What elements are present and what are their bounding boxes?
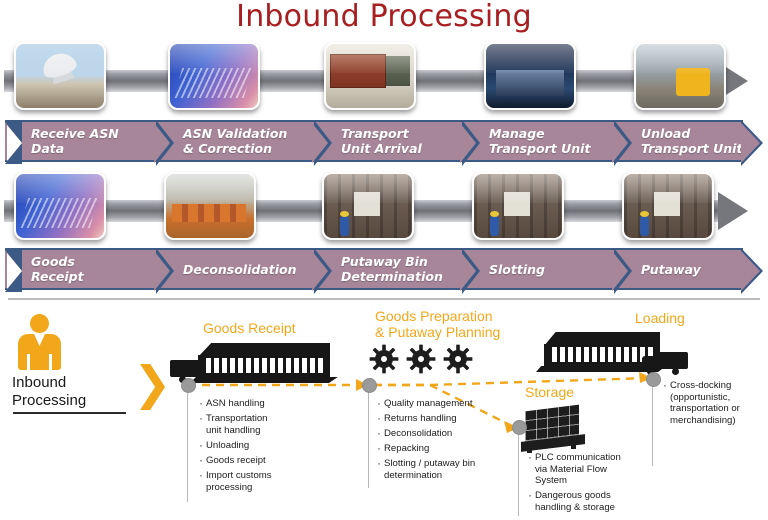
chevron-label: Deconsolidation	[157, 262, 296, 277]
list-item: Dangerous goods handling & storage	[527, 490, 642, 513]
person-icon	[18, 314, 60, 370]
list-item: PLC communication via Material Flow Syst…	[527, 452, 642, 487]
chevron-step-slotting[interactable]: Slotting	[463, 248, 615, 290]
list-item: Slotting / putaway bin determination	[376, 458, 506, 481]
thumbnail-warehouse-rack-3	[622, 172, 714, 240]
chevron-label: ASN Validation & Correction	[157, 126, 287, 156]
flow-stem-goods-preparation	[368, 390, 369, 488]
list-item: Transportation unit handling	[198, 413, 290, 436]
row-1-thumbnails	[0, 42, 768, 110]
chevron-step-putaway-bin-determination[interactable]: Putaway Bin Determination	[315, 248, 463, 290]
chevron-bar-row-2: Goods Receipt Deconsolidation Putaway Bi…	[5, 248, 760, 290]
warehouse-icon-goods-receipt	[198, 343, 330, 385]
gears-icon	[369, 344, 473, 376]
flow-stem-loading	[652, 384, 653, 466]
chevron-step-manage-transport-unit[interactable]: Manage Transport Unit	[463, 120, 615, 162]
stage-heading-goods-receipt: Goods Receipt	[203, 320, 296, 336]
bullet-list-loading: Cross-docking (opportunistic, transporta…	[662, 380, 766, 430]
truck-icon-loading	[642, 352, 688, 374]
list-item: Cross-docking (opportunistic, transporta…	[662, 380, 766, 426]
bullet-list-storage: PLC communication via Material Flow Syst…	[527, 452, 642, 517]
list-item: Deconsolidation	[376, 428, 506, 440]
inbound-processing-label: Inbound Processing	[12, 374, 132, 410]
chevron-step-unload-transport-unit[interactable]: Unload Transport Unit	[615, 120, 743, 162]
thumbnail-warehouse-rack-2	[472, 172, 564, 240]
thumbnail-conveyor-parcels	[164, 172, 256, 240]
chevron-label: Unload Transport Unit	[615, 126, 742, 156]
pallet-icon	[521, 408, 585, 452]
list-item: Quality management	[376, 398, 506, 410]
flow-node-goods-receipt	[181, 378, 196, 393]
chevron-step-deconsolidation[interactable]: Deconsolidation	[157, 248, 315, 290]
list-item: Unloading	[198, 440, 290, 452]
chevron-label: Manage Transport Unit	[463, 126, 590, 156]
thumbnail-satellite-dish	[14, 42, 106, 110]
thumbnail-keyboard-typing-2	[14, 172, 106, 240]
list-item: ASN handling	[198, 398, 290, 410]
page-title: Inbound Processing	[0, 0, 768, 34]
flow-node-storage	[512, 420, 527, 435]
bullet-list-goods-receipt: ASN handling Transportation unit handlin…	[198, 398, 290, 497]
flow-node-loading	[646, 372, 661, 387]
chevron-step-putaway[interactable]: Putaway	[615, 248, 743, 290]
flow-node-goods-preparation	[362, 378, 377, 393]
row-2-thumbnails	[0, 172, 768, 240]
chevron-label: Putaway Bin Determination	[315, 254, 443, 284]
inbound-processing-slide: Inbound Processing	[0, 0, 768, 520]
flow-stem-goods-receipt	[187, 390, 188, 502]
list-item: Repacking	[376, 443, 506, 455]
chevron-step-receive-asn-data[interactable]: Receive ASN Data	[5, 120, 157, 162]
stage-heading-storage: Storage	[525, 384, 574, 400]
chevron-right-icon: ❯	[133, 360, 172, 406]
list-item: Import customs processing	[198, 470, 290, 493]
thumbnail-warehouse-rack-1	[322, 172, 414, 240]
list-item: Goods receipt	[198, 455, 290, 467]
thumbnail-truck-yard	[484, 42, 576, 110]
chevron-bar-row-1: Receive ASN Data ASN Validation & Correc…	[5, 120, 760, 162]
chevron-step-transport-unit-arrival[interactable]: Transport Unit Arrival	[315, 120, 463, 162]
inbound-processing-underline	[13, 412, 126, 414]
chevron-step-asn-validation[interactable]: ASN Validation & Correction	[157, 120, 315, 162]
stage-heading-goods-preparation: Goods Preparation & Putaway Planning	[375, 308, 500, 340]
thumbnail-forklift	[634, 42, 726, 110]
detail-diagram: Inbound Processing ❯ Goods Receipt ASN h…	[0, 300, 768, 520]
bullet-list-goods-preparation: Quality management Returns handling Deco…	[376, 398, 506, 485]
list-item: Returns handling	[376, 413, 506, 425]
flow-stem-storage	[518, 432, 519, 516]
stage-heading-loading: Loading	[635, 310, 685, 326]
chevron-step-goods-receipt[interactable]: Goods Receipt	[5, 248, 157, 290]
thumbnail-keyboard-typing	[168, 42, 260, 110]
thumbnail-loaded-truck	[324, 42, 416, 110]
chevron-label: Receive ASN Data	[5, 126, 119, 156]
